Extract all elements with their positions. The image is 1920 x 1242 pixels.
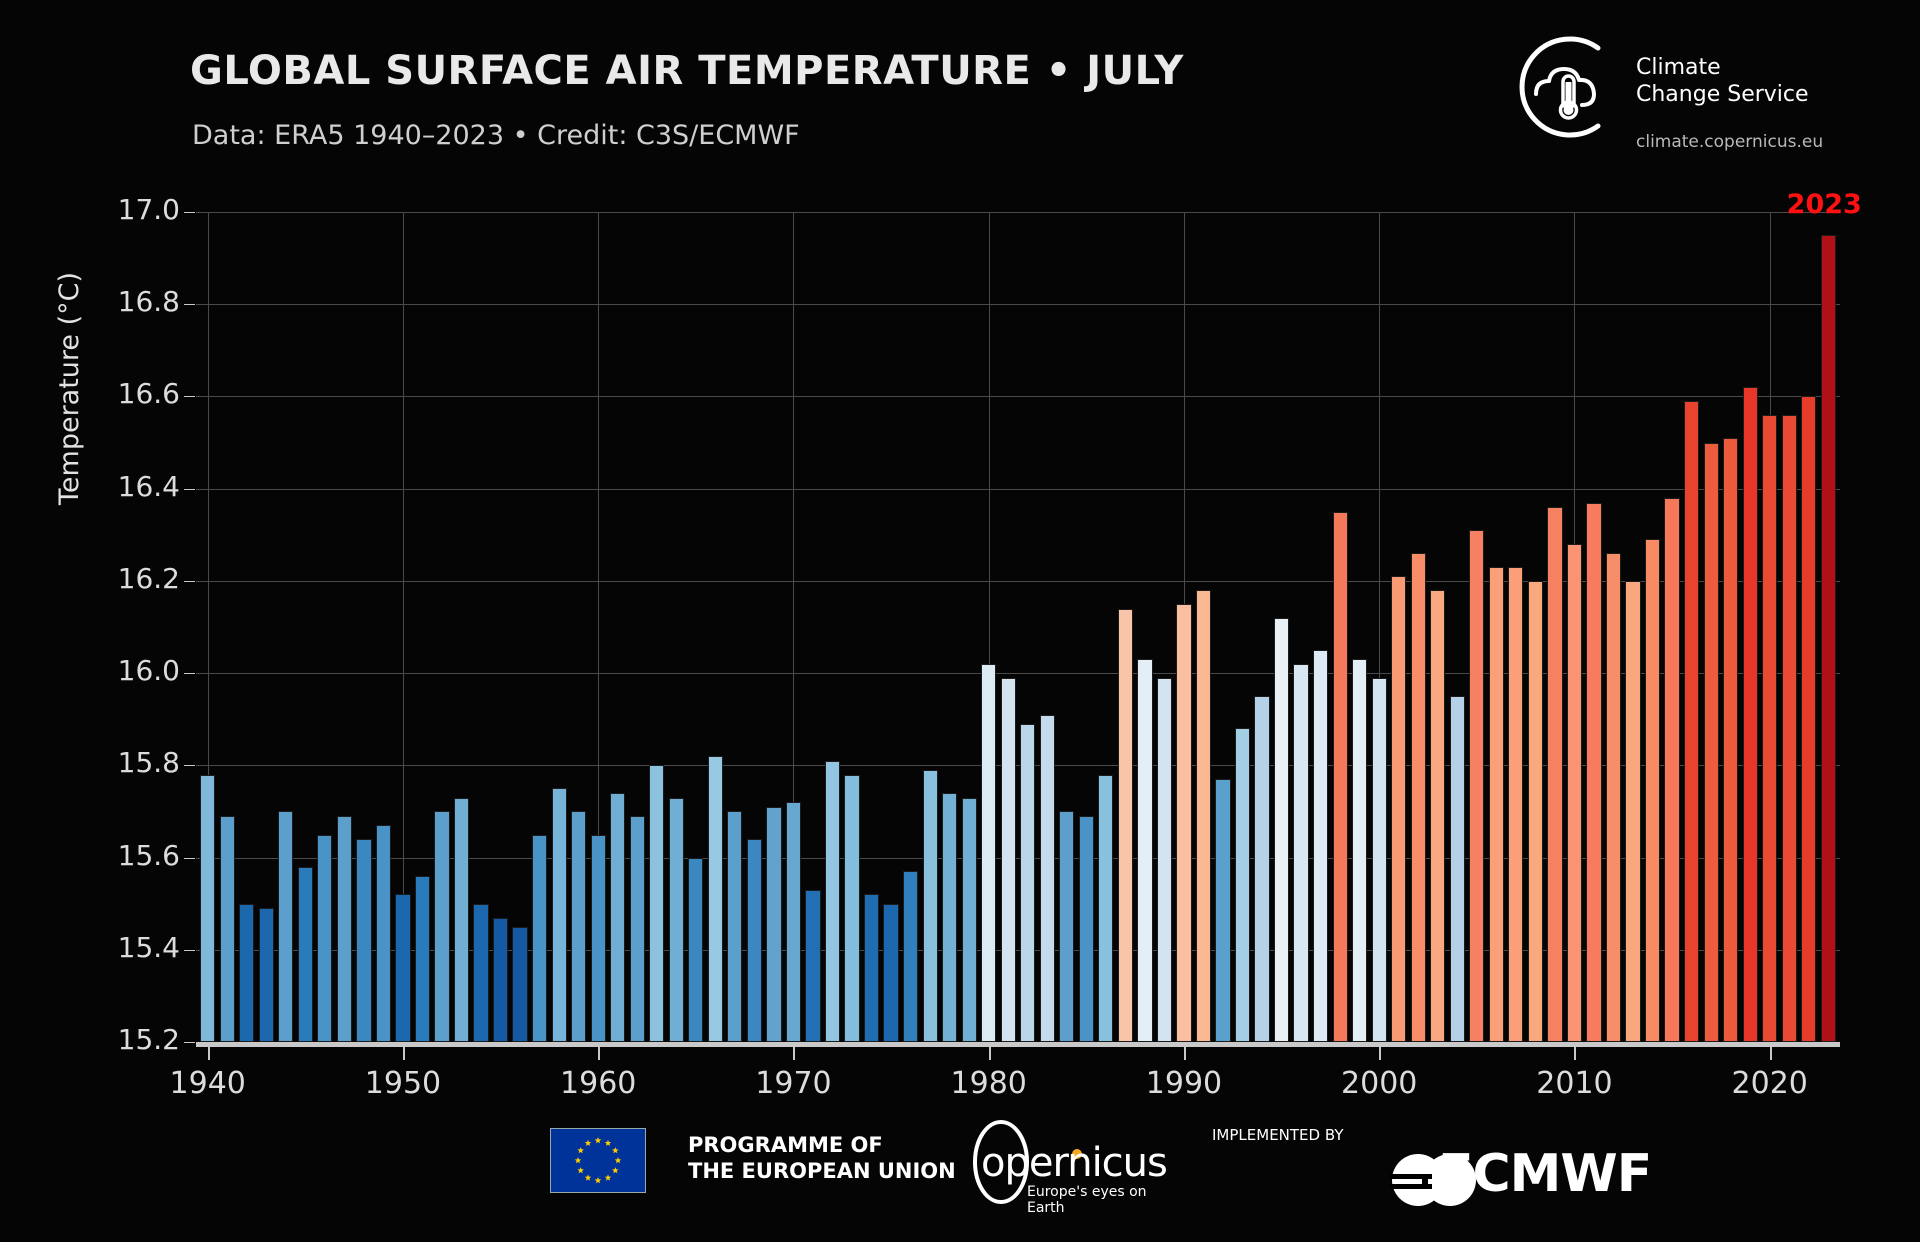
bar xyxy=(1137,659,1152,1042)
y-axis-tick-label: 16.2 xyxy=(60,562,180,595)
bar xyxy=(1293,664,1308,1042)
bar xyxy=(1079,816,1094,1042)
bar xyxy=(727,811,742,1042)
y-axis-tick-mark xyxy=(184,304,195,305)
bar xyxy=(473,904,488,1042)
bar xyxy=(317,835,332,1043)
copernicus-logo: opernicus Europe's eyes on Earth xyxy=(965,1120,1185,1206)
c3s-logo: Climate Change Service climate.copernicu… xyxy=(1496,28,1896,168)
bar xyxy=(356,839,371,1042)
bar xyxy=(1586,503,1601,1043)
bar xyxy=(1040,715,1055,1042)
bar xyxy=(1743,387,1758,1042)
y-axis-tick-mark xyxy=(184,950,195,951)
x-axis-line xyxy=(196,1042,1840,1047)
y-axis-tick-mark xyxy=(184,858,195,859)
bar xyxy=(1118,609,1133,1042)
bar xyxy=(786,802,801,1042)
bar xyxy=(493,918,508,1043)
bar xyxy=(805,890,820,1042)
bar xyxy=(1625,581,1640,1042)
bar xyxy=(1372,678,1387,1042)
bar xyxy=(1684,401,1699,1042)
y-axis-tick-label: 15.8 xyxy=(60,746,180,779)
x-axis-tick-mark xyxy=(1379,1047,1381,1060)
y-axis-tick-label: 17.0 xyxy=(60,193,180,226)
bar xyxy=(1020,724,1035,1042)
bar xyxy=(278,811,293,1042)
bar xyxy=(923,770,938,1042)
x-axis-tick-mark xyxy=(598,1047,600,1060)
chart-plot-area: 2023 xyxy=(196,212,1840,1042)
x-axis-tick-label: 1980 xyxy=(919,1066,1059,1101)
x-axis-tick-mark xyxy=(1574,1047,1576,1060)
bar xyxy=(1547,507,1562,1042)
page-subtitle: Data: ERA5 1940–2023 • Credit: C3S/ECMWF xyxy=(192,120,800,151)
chart-page: GLOBAL SURFACE AIR TEMPERATURE • JULY Da… xyxy=(0,0,1920,1242)
bar xyxy=(1411,553,1426,1042)
bar xyxy=(1762,415,1777,1042)
gridline-horizontal xyxy=(196,489,1840,490)
c3s-logo-text: Climate Change Service xyxy=(1636,54,1809,108)
copernicus-tagline: Europe's eyes on Earth xyxy=(1027,1184,1185,1216)
bar xyxy=(1801,396,1816,1042)
bar xyxy=(1723,438,1738,1042)
bar xyxy=(962,798,977,1042)
page-title: GLOBAL SURFACE AIR TEMPERATURE • JULY xyxy=(190,48,1184,94)
bar xyxy=(591,835,606,1043)
highlight-year-label: 2023 xyxy=(1787,189,1862,220)
y-axis-tick-mark xyxy=(184,765,195,766)
x-axis-tick-mark xyxy=(989,1047,991,1060)
x-axis-tick-label: 2000 xyxy=(1309,1066,1449,1101)
bar xyxy=(1606,553,1621,1042)
bar xyxy=(1391,576,1406,1042)
x-axis-tick-mark xyxy=(403,1047,405,1060)
bar xyxy=(1157,678,1172,1042)
bar xyxy=(532,835,547,1043)
bar xyxy=(1176,604,1191,1042)
y-axis-tick-mark xyxy=(184,396,195,397)
bar xyxy=(571,811,586,1042)
y-axis-tick-mark xyxy=(184,581,195,582)
bar xyxy=(376,825,391,1042)
bar xyxy=(1469,530,1484,1042)
y-axis-tick-mark xyxy=(184,1042,195,1043)
bar xyxy=(1001,678,1016,1042)
bar xyxy=(649,765,664,1042)
implemented-by-label: IMPLEMENTED BY xyxy=(1212,1126,1343,1144)
bar xyxy=(1528,581,1543,1042)
bar xyxy=(454,798,469,1042)
bar xyxy=(747,839,762,1042)
bar xyxy=(1489,567,1504,1042)
ecmwf-wordmark: ECMWF xyxy=(1438,1144,1651,1204)
bar xyxy=(512,927,527,1042)
bar xyxy=(1821,235,1836,1042)
bar xyxy=(415,876,430,1042)
bar xyxy=(1645,539,1660,1042)
x-axis-tick-label: 2020 xyxy=(1700,1066,1840,1101)
x-axis-tick-label: 1970 xyxy=(723,1066,863,1101)
y-axis-tick-mark xyxy=(184,489,195,490)
y-axis-tick-mark xyxy=(184,212,195,213)
x-axis-tick-label: 1940 xyxy=(138,1066,278,1101)
bar xyxy=(1664,498,1679,1042)
bar xyxy=(1450,696,1465,1042)
c3s-logo-line2: Change Service xyxy=(1636,81,1809,108)
bar xyxy=(981,664,996,1042)
gridline-horizontal xyxy=(196,396,1840,397)
x-axis-tick-label: 1950 xyxy=(333,1066,473,1101)
x-axis-tick-label: 2010 xyxy=(1504,1066,1644,1101)
bar xyxy=(1215,779,1230,1042)
climate-change-service-icon xyxy=(1506,32,1628,142)
bar xyxy=(1704,443,1719,1042)
bar xyxy=(1567,544,1582,1042)
c3s-logo-url: climate.copernicus.eu xyxy=(1636,132,1823,152)
eu-programme-line2: THE EUROPEAN UNION xyxy=(688,1158,956,1184)
bar xyxy=(942,793,957,1042)
bar xyxy=(200,775,215,1042)
eu-programme-text: PROGRAMME OF THE EUROPEAN UNION xyxy=(688,1132,956,1184)
bar xyxy=(903,871,918,1042)
eu-programme-line1: PROGRAMME OF xyxy=(688,1132,956,1158)
copernicus-wordmark: opernicus xyxy=(981,1140,1167,1186)
bar xyxy=(1508,567,1523,1042)
bar xyxy=(1313,650,1328,1042)
y-axis-tick-label: 15.2 xyxy=(60,1023,180,1056)
bar xyxy=(630,816,645,1042)
y-axis-tick-label: 15.6 xyxy=(60,839,180,872)
bar xyxy=(337,816,352,1042)
y-axis-tick-label: 16.0 xyxy=(60,654,180,687)
bar xyxy=(669,798,684,1042)
x-axis-tick-label: 1990 xyxy=(1114,1066,1254,1101)
bar xyxy=(259,908,274,1042)
x-axis-tick-label: 1960 xyxy=(528,1066,668,1101)
bar xyxy=(864,894,879,1042)
bar xyxy=(298,867,313,1042)
bar xyxy=(1098,775,1113,1042)
y-axis-tick-mark xyxy=(184,673,195,674)
bar xyxy=(1059,811,1074,1042)
bar xyxy=(766,807,781,1042)
bar xyxy=(239,904,254,1042)
bar xyxy=(1352,659,1367,1042)
x-axis-tick-mark xyxy=(208,1047,210,1060)
eu-flag-icon xyxy=(550,1128,646,1193)
bar xyxy=(434,811,449,1042)
x-axis-tick-mark xyxy=(793,1047,795,1060)
bar xyxy=(1430,590,1445,1042)
bar xyxy=(883,904,898,1042)
gridline-horizontal xyxy=(196,212,1840,213)
bar xyxy=(610,793,625,1042)
x-axis-tick-mark xyxy=(1770,1047,1772,1060)
gridline-horizontal xyxy=(196,304,1840,305)
bar xyxy=(844,775,859,1042)
bar xyxy=(825,761,840,1042)
bar xyxy=(220,816,235,1042)
x-axis-tick-mark xyxy=(1184,1047,1186,1060)
y-axis-tick-label: 15.4 xyxy=(60,931,180,964)
bar xyxy=(1333,512,1348,1042)
c3s-logo-line1: Climate xyxy=(1636,54,1809,81)
bar xyxy=(395,894,410,1042)
bar xyxy=(708,756,723,1042)
bar xyxy=(1254,696,1269,1042)
bar xyxy=(1274,618,1289,1042)
bar xyxy=(1782,415,1797,1042)
bar xyxy=(1235,728,1250,1042)
footer: PROGRAMME OF THE EUROPEAN UNION opernicu… xyxy=(0,1120,1920,1230)
bar xyxy=(688,858,703,1042)
bar xyxy=(552,788,567,1042)
bar xyxy=(1196,590,1211,1042)
y-axis-label: Temperature (°C) xyxy=(54,272,85,505)
